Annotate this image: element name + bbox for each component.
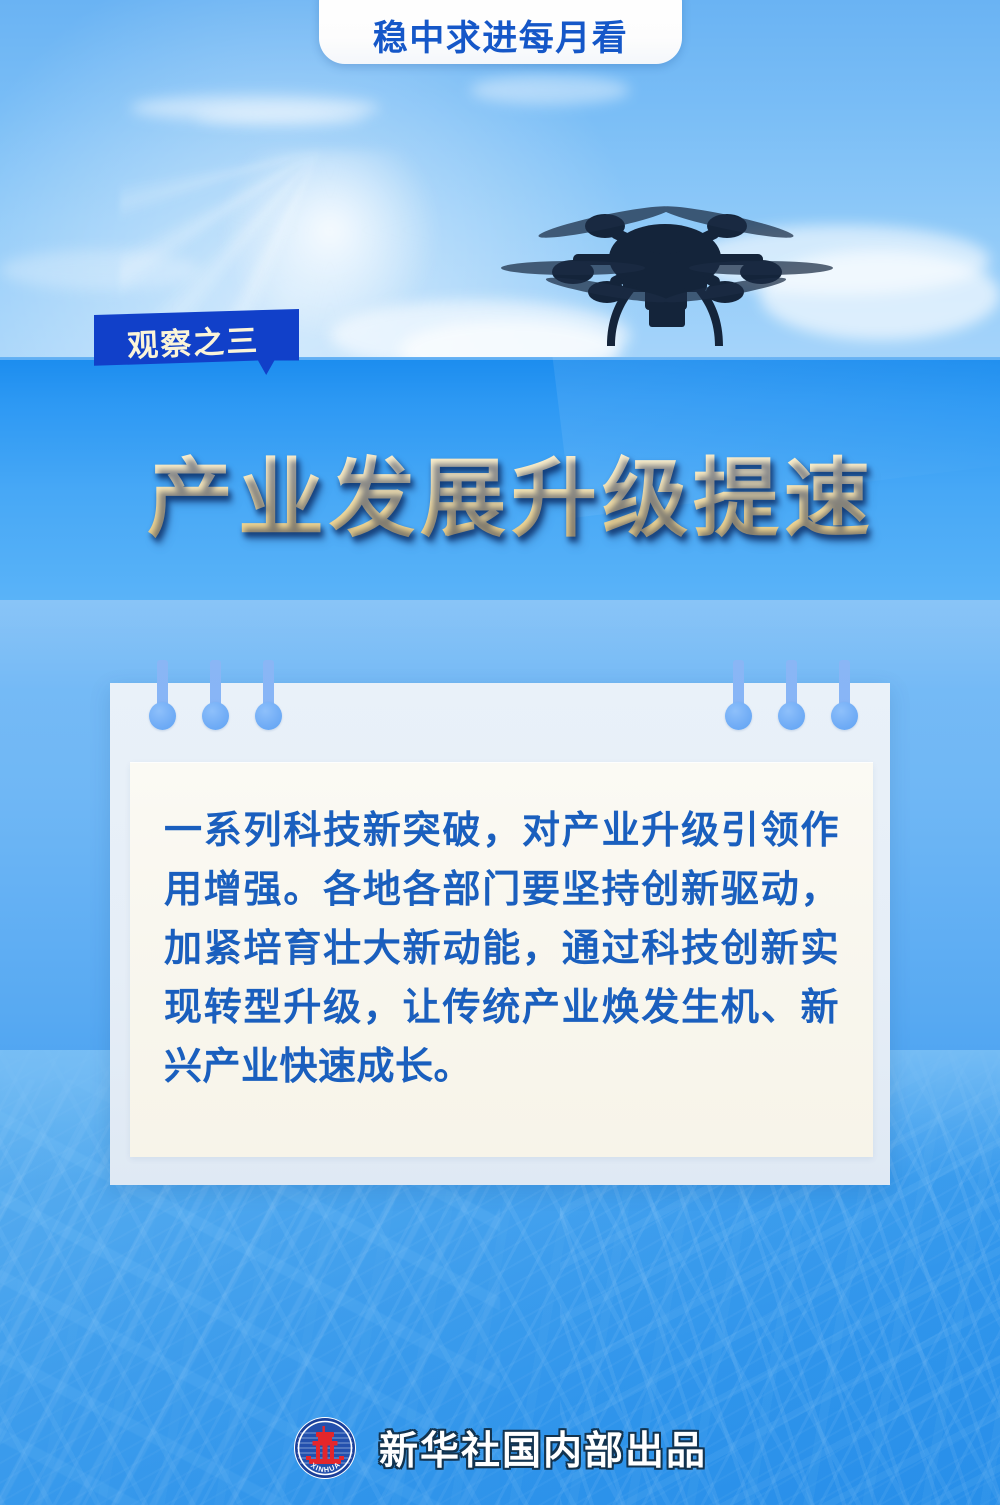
xinhua-logo: XINHUA xyxy=(293,1416,357,1480)
series-tab-label: 稳中求进每月看 xyxy=(373,21,629,56)
cloud xyxy=(195,108,365,126)
series-tab[interactable]: 稳中求进每月看 xyxy=(319,0,682,64)
note-card: 一系列科技新突破，对产业升级引领作用增强。各地各部门要坚持创新驱动，加紧培育壮大… xyxy=(110,660,890,1185)
drone-icon xyxy=(455,180,875,355)
note-body-text: 一系列科技新突破，对产业升级引领作用增强。各地各部门要坚持创新驱动，加紧培育壮大… xyxy=(164,802,839,1096)
poster-root: 稳中求进每月看 观察之三 产业发展升级提速 一系列科技新突破，对产业升级引领作用… xyxy=(0,0,1000,1505)
page-title: 产业发展升级提速 xyxy=(0,428,1000,553)
section-banner: 观察之三 xyxy=(94,309,299,375)
section-banner-label: 观察之三 xyxy=(93,305,285,371)
footer-label: 新华社国内部出品 xyxy=(379,1420,707,1476)
cloud xyxy=(0,250,200,290)
note-paper: 一系列科技新突破，对产业升级引领作用增强。各地各部门要坚持创新驱动，加紧培育壮大… xyxy=(130,762,873,1157)
cloud xyxy=(470,75,630,105)
page-title-text: 产业发展升级提速 xyxy=(125,428,875,553)
footer: XINHUA 新华社国内部出品 xyxy=(0,1408,1000,1488)
